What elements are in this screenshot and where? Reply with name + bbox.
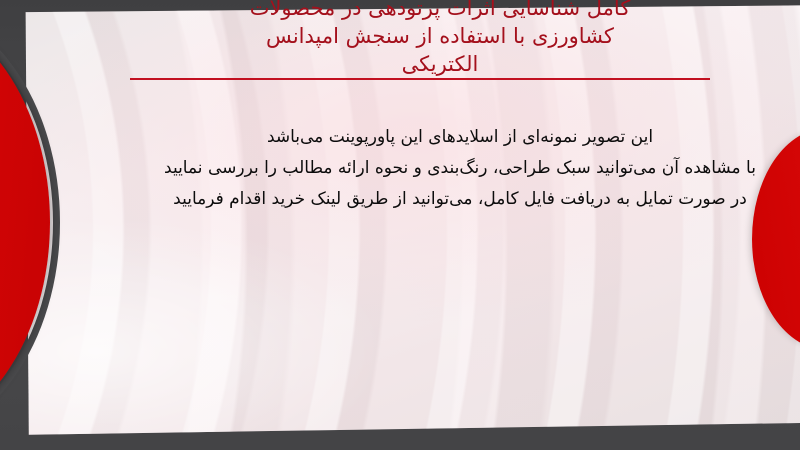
body-line-2: با مشاهده آن می‌توانید سبک طراحی، رنگ‌بن… [150, 153, 770, 184]
title-underline-rule [130, 78, 710, 80]
slide-body-text: این تصویر نمونه‌ای از اسلایدهای این پاور… [150, 122, 770, 215]
body-line-3: در صورت تمایل به دریافت فایل کامل، می‌تو… [150, 184, 770, 215]
slide-canvas: کامل شناسایی اثرات پرتودهی در محصولات کش… [0, 0, 800, 450]
body-line-1: این تصویر نمونه‌ای از اسلایدهای این پاور… [150, 122, 770, 153]
slide-title: کامل شناسایی اثرات پرتودهی در محصولات کش… [120, 0, 760, 78]
